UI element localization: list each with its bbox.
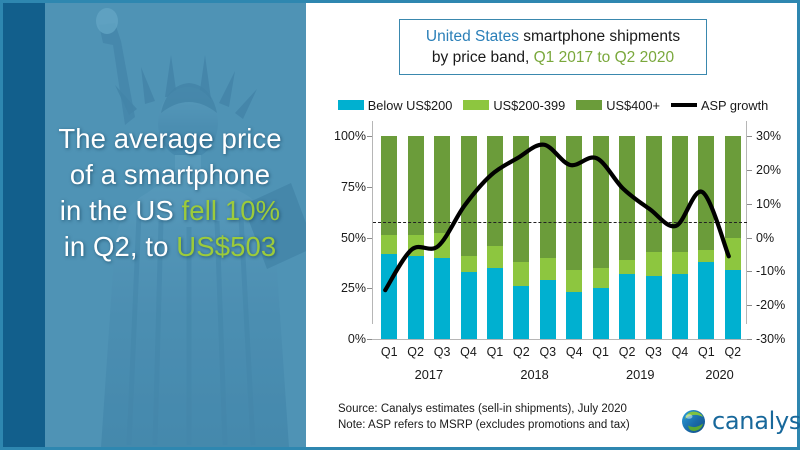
y-tick-label-right: 30%	[756, 130, 800, 143]
legend-swatch-icon	[576, 100, 602, 110]
legend-swatch-icon	[463, 100, 489, 110]
y-tick-label-right: 20%	[756, 164, 800, 177]
legend-label: US$200-399	[493, 98, 565, 113]
y-tick-label-right: 10%	[756, 198, 800, 211]
chart-title-country: United States	[426, 28, 519, 45]
y-tick-right	[747, 204, 752, 205]
chart-title-box: United States smartphone shipments by pr…	[399, 19, 707, 75]
x-tick-label-quarter: Q4	[455, 345, 483, 359]
y-tick-right	[747, 170, 752, 171]
headline-line-4-plain: in Q2, to	[64, 231, 177, 262]
legend-label: ASP growth	[701, 98, 768, 113]
legend-line-icon	[671, 103, 697, 107]
y-tick-label-right: -10%	[756, 265, 800, 278]
y-tick-left	[367, 339, 372, 340]
x-tick-label-quarter: Q2	[507, 345, 535, 359]
y-tick-right	[747, 136, 752, 137]
x-tick-label-year: 2017	[399, 367, 459, 382]
x-tick-label-year: 2020	[690, 367, 750, 382]
asp-note: Note: ASP refers to MSRP (excludes promo…	[338, 417, 630, 433]
headline-line-1: The average price	[39, 121, 301, 157]
legend-item-200-399: US$200-399	[463, 98, 565, 113]
x-tick-label-quarter: Q2	[402, 345, 430, 359]
headline-line-4-highlight: US$503	[176, 231, 276, 262]
x-tick-label-quarter: Q1	[587, 345, 615, 359]
headline-text: The average price of a smartphone in the…	[39, 121, 301, 265]
legend-item-asp-growth: ASP growth	[671, 98, 768, 113]
footnotes: Source: Canalys estimates (sell-in shipm…	[338, 401, 630, 433]
asp-growth-line	[372, 121, 747, 324]
x-tick-label-quarter: Q2	[613, 345, 641, 359]
headline-line-4: in Q2, to US$503	[39, 229, 301, 265]
x-tick-label-quarter: Q3	[428, 345, 456, 359]
x-tick-label-quarter: Q2	[719, 345, 747, 359]
x-tick-label-quarter: Q3	[534, 345, 562, 359]
y-tick-right	[747, 271, 752, 272]
x-tick-label-quarter: Q4	[666, 345, 694, 359]
y-tick-label-right: -30%	[756, 333, 800, 346]
x-tick-label-quarter: Q1	[481, 345, 509, 359]
x-tick-label-quarter: Q4	[560, 345, 588, 359]
legend-swatch-icon	[338, 100, 364, 110]
chart-legend: Below US$200 US$200-399 US$400+ ASP grow…	[338, 95, 768, 115]
x-tick-label-year: 2018	[505, 367, 565, 382]
chart-title-line-2: by price band, Q1 2017 to Q2 2020	[432, 47, 674, 68]
left-panel: The average price of a smartphone in the…	[3, 3, 306, 447]
x-tick-label-quarter: Q3	[640, 345, 668, 359]
stacked-bar-chart: 0%25%50%75%100% -30%-20%-10%0%10%20%30% …	[306, 121, 797, 401]
chart-title-period: Q1 2017 to Q2 2020	[534, 49, 674, 66]
y-tick-right	[747, 238, 752, 239]
headline-line-2: of a smartphone	[39, 157, 301, 193]
legend-label: US$400+	[606, 98, 660, 113]
y-tick-label-left: 0%	[306, 333, 366, 346]
headline-line-3-plain: in the US	[60, 195, 182, 226]
headline-line-3-highlight: fell 10%	[182, 195, 281, 226]
y-tick-right	[747, 305, 752, 306]
right-panel: United States smartphone shipments by pr…	[306, 3, 797, 447]
x-tick-label-quarter: Q1	[375, 345, 403, 359]
canalys-globe-icon	[681, 409, 706, 434]
x-tick-label-quarter: Q1	[692, 345, 720, 359]
y-tick-label-right: -20%	[756, 299, 800, 312]
chart-title-subject: smartphone shipments	[519, 28, 680, 45]
x-axis	[372, 339, 747, 340]
y-tick-label-left: 100%	[306, 130, 366, 143]
x-tick-label-year: 2019	[610, 367, 670, 382]
legend-label: Below US$200	[368, 98, 453, 113]
legend-item-400-plus: US$400+	[576, 98, 660, 113]
y-tick-right	[747, 339, 752, 340]
y-tick-label-left: 50%	[306, 232, 366, 245]
legend-item-below-200: Below US$200	[338, 98, 453, 113]
chart-title-priceband: by price band,	[432, 49, 534, 66]
x-axis-labels: Q1Q2Q3Q4Q1Q2Q3Q4Q1Q2Q3Q4Q1Q2201720182019…	[376, 345, 746, 395]
canalys-wordmark: canalys	[712, 407, 800, 435]
y-tick-label-left: 75%	[306, 181, 366, 194]
source-note: Source: Canalys estimates (sell-in shipm…	[338, 401, 630, 417]
canalys-logo: canalys	[681, 407, 800, 435]
y-tick-label-left: 25%	[306, 282, 366, 295]
chart-title-line-1: United States smartphone shipments	[426, 26, 680, 47]
infographic-root: The average price of a smartphone in the…	[0, 0, 800, 450]
headline-line-3: in the US fell 10%	[39, 193, 301, 229]
y-tick-label-right: 0%	[756, 232, 800, 245]
